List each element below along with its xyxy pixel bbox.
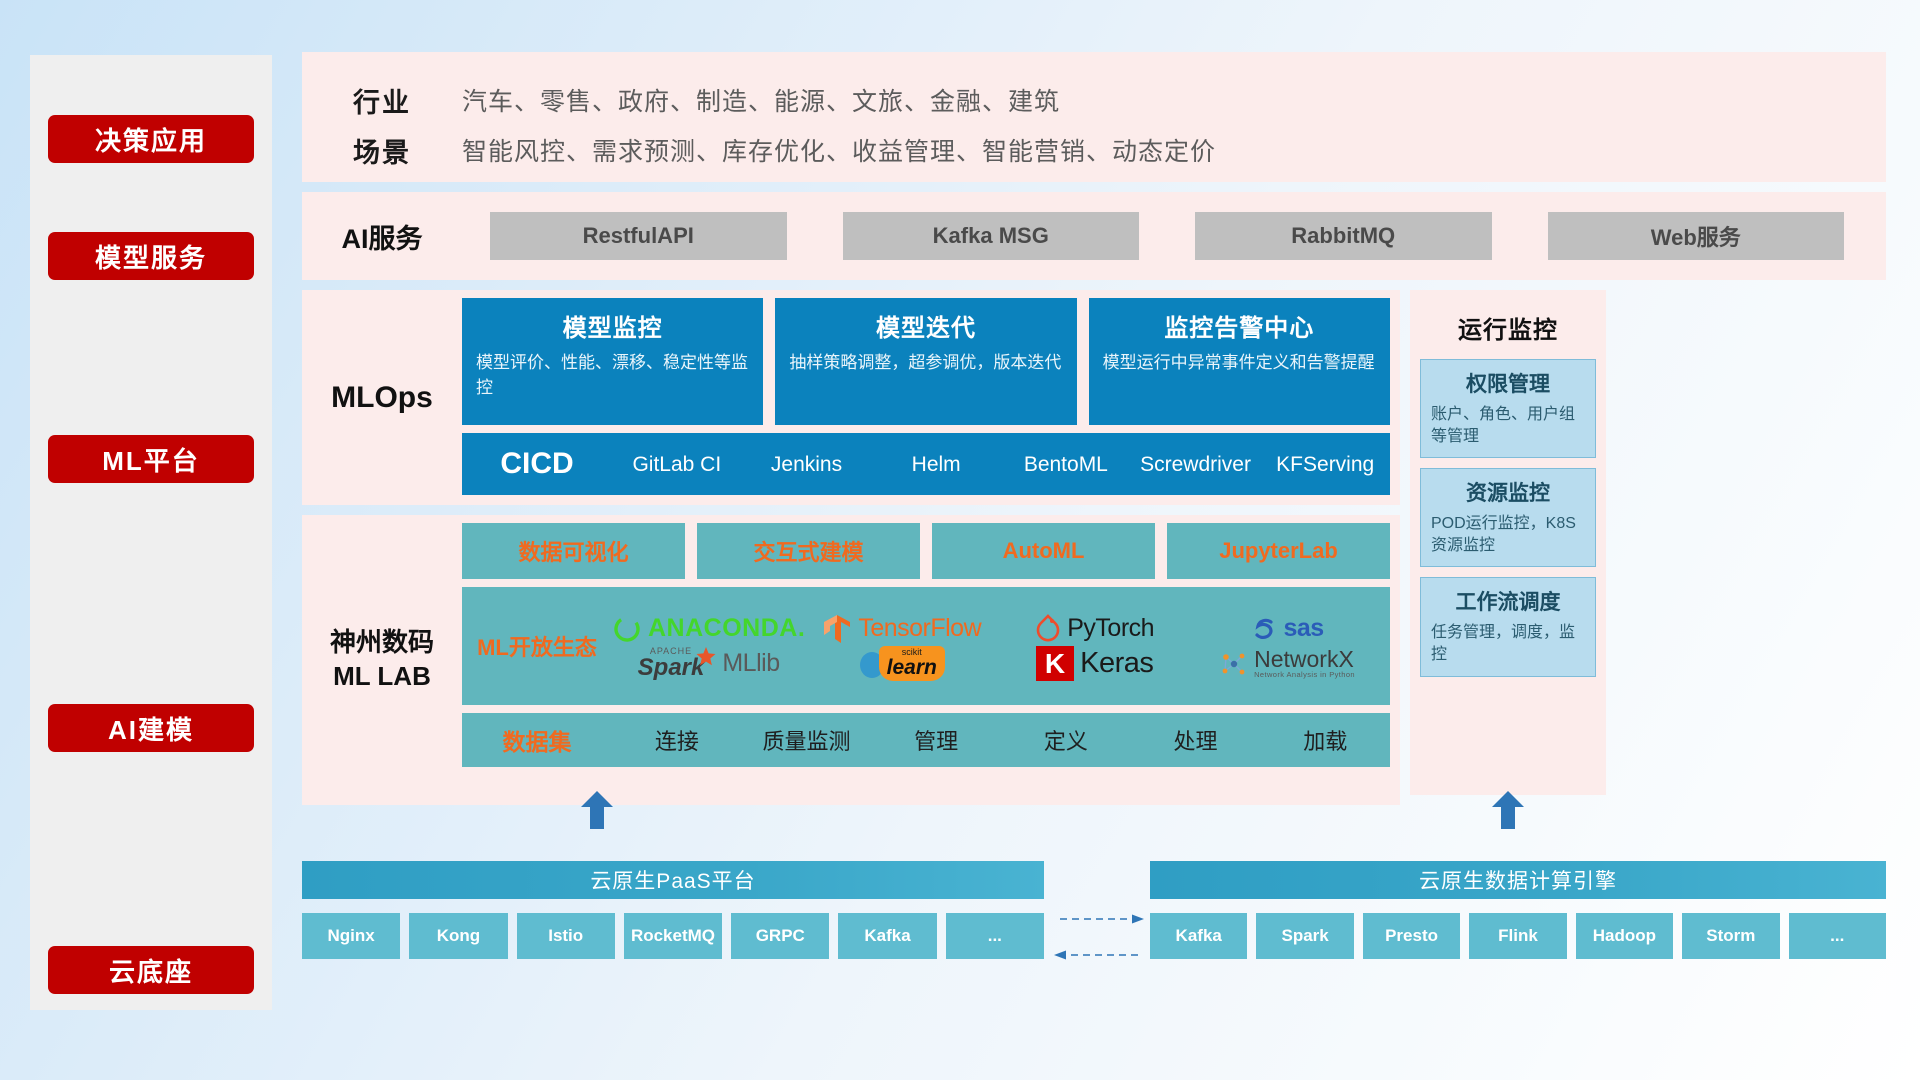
cloud-chip-spark[interactable]: Spark (1256, 913, 1353, 959)
ml-lab-label-line1: 神州数码 (302, 626, 462, 660)
cloud-chip-more-right[interactable]: ... (1789, 913, 1886, 959)
card-title: 资源监控 (1431, 477, 1585, 507)
card-title: 模型迭代 (789, 308, 1062, 343)
networkx-subtitle: Network Analysis in Python (1254, 671, 1355, 679)
cicd-item-gitlab-ci[interactable]: GitLab CI (612, 452, 742, 476)
anaconda-logo: ANACONDA. (612, 614, 805, 644)
stage-pill-ai-modeling[interactable]: AI建模 (48, 704, 254, 752)
ml-ecosystem-logo-grid: ANACONDA. TensorFlow (612, 611, 1390, 681)
mlops-card-model-iteration[interactable]: 模型迭代 抽样策略调整，超参调优，版本迭代 (775, 298, 1076, 425)
spark-mllib-logo: APACHE Spark MLlib (638, 647, 780, 681)
runtime-monitoring-title: 运行监控 (1420, 300, 1596, 359)
card-title: 监控告警中心 (1103, 308, 1376, 343)
up-arrow-left-icon (580, 791, 614, 829)
dataset-item-quality-monitoring[interactable]: 质量监测 (742, 724, 872, 756)
sas-logo-text: sas (1283, 614, 1323, 643)
tool-chip-data-visualization[interactable]: 数据可视化 (462, 523, 685, 579)
ml-lab-label-line2: ML LAB (302, 660, 462, 694)
mlops-card-model-monitoring[interactable]: 模型监控 模型评价、性能、漂移、稳定性等监控 (462, 298, 763, 425)
bidirectional-dashed-connector (1054, 909, 1144, 965)
stage-pill-model-service[interactable]: 模型服务 (48, 232, 254, 280)
networkx-icon (1220, 650, 1248, 678)
stage-pill-ml-platform[interactable]: ML平台 (48, 435, 254, 483)
cloud-chip-rocketmq[interactable]: RocketMQ (624, 913, 722, 959)
cloud-data-engine-group: 云原生数据计算引擎 Kafka Spark Presto Flink Hadoo… (1150, 861, 1886, 959)
sas-logo: sas (1251, 614, 1323, 643)
dataset-item-load[interactable]: 加载 (1260, 724, 1390, 756)
scenario-key: 场景 (302, 131, 462, 170)
up-arrow-right-icon (1491, 791, 1525, 829)
stage-label: AI建模 (108, 710, 194, 747)
ai-service-chip-rabbitmq[interactable]: RabbitMQ (1195, 212, 1492, 260)
ai-modeling-band: 神州数码 ML LAB 数据可视化 交互式建模 AutoML JupyterLa… (302, 515, 1886, 805)
keras-logo-text: Keras (1080, 647, 1153, 680)
ml-ecosystem-block: ML开放生态 ANACONDA. (462, 587, 1390, 705)
tensorflow-icon (822, 613, 852, 645)
cicd-item-screwdriver[interactable]: Screwdriver (1131, 452, 1261, 476)
monitor-card-permission[interactable]: 权限管理 账户、角色、用户组等管理 (1420, 359, 1596, 458)
cicd-title: CICD (462, 447, 612, 481)
keras-logo: K Keras (1036, 646, 1154, 681)
sas-icon (1251, 616, 1277, 642)
mlops-card-alert-center[interactable]: 监控告警中心 模型运行中异常事件定义和告警提醒 (1089, 298, 1390, 425)
cloud-chip-storm[interactable]: Storm (1682, 913, 1779, 959)
ai-service-chip-kafka-msg[interactable]: Kafka MSG (843, 212, 1140, 260)
anaconda-logo-text: ANACONDA. (648, 614, 805, 643)
pytorch-logo: PyTorch (1035, 614, 1154, 644)
tensorflow-logo-text: TensorFlow (858, 614, 981, 643)
cicd-item-helm[interactable]: Helm (871, 452, 1001, 476)
mllib-logo-text: MLlib (722, 649, 779, 678)
scenario-row: 场景 智能风控、需求预测、库存优化、收益管理、智能营销、动态定价 (302, 125, 1886, 175)
card-desc: 抽样策略调整，超参调优，版本迭代 (789, 351, 1062, 376)
ml-lab-content: 数据可视化 交互式建模 AutoML JupyterLab ML开放生态 (462, 515, 1400, 805)
cicd-item-jenkins[interactable]: Jenkins (742, 452, 872, 476)
tensorflow-logo: TensorFlow (822, 613, 981, 645)
stage-label: 模型服务 (95, 238, 207, 275)
industry-key: 行业 (302, 81, 462, 120)
stage-pill-decision[interactable]: 决策应用 (48, 115, 254, 163)
diagram-body: 行业 汽车、零售、政府、制造、能源、文旅、金融、建筑 场景 智能风控、需求预测、… (302, 52, 1886, 995)
ai-service-chip-restfulapi[interactable]: RestfulAPI (490, 212, 787, 260)
dataset-item-manage[interactable]: 管理 (871, 724, 1001, 756)
scikit-learn-logo: scikit learn (859, 646, 945, 681)
cloud-chip-flink[interactable]: Flink (1469, 913, 1566, 959)
dataset-item-connect[interactable]: 连接 (612, 724, 742, 756)
cicd-item-bentoml[interactable]: BentoML (1001, 452, 1131, 476)
cloud-chip-kong[interactable]: Kong (409, 913, 507, 959)
mlops-section: MLOps 模型监控 模型评价、性能、漂移、稳定性等监控 模型迭代 抽样策略调整… (302, 290, 1400, 505)
tool-chip-jupyterlab[interactable]: JupyterLab (1167, 523, 1390, 579)
industry-band: 行业 汽车、零售、政府、制造、能源、文旅、金融、建筑 场景 智能风控、需求预测、… (302, 52, 1886, 182)
cicd-item-kfserving[interactable]: KFServing (1260, 452, 1390, 476)
spark-star-icon (696, 647, 716, 667)
cloud-chip-grpc[interactable]: GRPC (731, 913, 829, 959)
cloud-chip-kafka[interactable]: Kafka (838, 913, 936, 959)
cloud-chip-more-left[interactable]: ... (946, 913, 1044, 959)
anaconda-icon (612, 614, 642, 644)
mlops-content: 模型监控 模型评价、性能、漂移、稳定性等监控 模型迭代 抽样策略调整，超参调优，… (462, 290, 1400, 505)
card-desc: 账户、角色、用户组等管理 (1431, 404, 1585, 447)
cloud-paas-group: 云原生PaaS平台 Nginx Kong Istio RocketMQ GRPC… (302, 861, 1044, 959)
cloud-chip-presto[interactable]: Presto (1363, 913, 1460, 959)
stage-rail: 决策应用 模型服务 ML平台 AI建模 云底座 (30, 55, 272, 1010)
cloud-paas-chip-list: Nginx Kong Istio RocketMQ GRPC Kafka ... (302, 913, 1044, 959)
cloud-chip-nginx[interactable]: Nginx (302, 913, 400, 959)
scenario-value: 智能风控、需求预测、库存优化、收益管理、智能营销、动态定价 (462, 132, 1216, 168)
ai-service-label: AI服务 (302, 217, 462, 256)
ml-platform-band: MLOps 模型监控 模型评价、性能、漂移、稳定性等监控 模型迭代 抽样策略调整… (302, 290, 1886, 505)
mlops-card-list: 模型监控 模型评价、性能、漂移、稳定性等监控 模型迭代 抽样策略调整，超参调优，… (462, 298, 1390, 425)
ai-service-band: AI服务 RestfulAPI Kafka MSG RabbitMQ Web服务 (302, 192, 1886, 280)
card-title: 权限管理 (1431, 368, 1585, 398)
stage-pill-cloud-base[interactable]: 云底座 (48, 946, 254, 994)
ml-lab-label: 神州数码 ML LAB (302, 626, 462, 694)
dataset-bar: 数据集 连接 质量监测 管理 定义 处理 加载 (462, 713, 1390, 767)
cloud-chip-hadoop[interactable]: Hadoop (1576, 913, 1673, 959)
dataset-item-process[interactable]: 处理 (1131, 724, 1261, 756)
tool-chip-interactive-modeling[interactable]: 交互式建模 (697, 523, 920, 579)
stage-label: 决策应用 (95, 121, 207, 158)
keras-k-icon: K (1036, 646, 1074, 681)
architecture-diagram: 决策应用 模型服务 ML平台 AI建模 云底座 行业 汽车、零售、政府、制造、能… (0, 0, 1920, 1080)
cloud-base-band: 云原生PaaS平台 Nginx Kong Istio RocketMQ GRPC… (302, 827, 1886, 995)
cloud-data-engine-header: 云原生数据计算引擎 (1150, 861, 1886, 899)
tool-chip-automl[interactable]: AutoML (932, 523, 1155, 579)
industry-value: 汽车、零售、政府、制造、能源、文旅、金融、建筑 (462, 82, 1060, 118)
card-desc: 模型评价、性能、漂移、稳定性等监控 (476, 351, 749, 400)
cloud-chip-kafka-right[interactable]: Kafka (1150, 913, 1247, 959)
ml-lab-tool-chip-list: 数据可视化 交互式建模 AutoML JupyterLab (462, 523, 1390, 579)
cloud-data-engine-chip-list: Kafka Spark Presto Flink Hadoop Storm ..… (1150, 913, 1886, 959)
dataset-item-define[interactable]: 定义 (1001, 724, 1131, 756)
networkx-logo: NetworkX Network Analysis in Python (1220, 648, 1355, 679)
industry-row: 行业 汽车、零售、政府、制造、能源、文旅、金融、建筑 (302, 75, 1886, 125)
ml-lab-section: 神州数码 ML LAB 数据可视化 交互式建模 AutoML JupyterLa… (302, 515, 1400, 805)
mlops-label: MLOps (302, 381, 462, 415)
ml-ecosystem-label: ML开放生态 (462, 630, 612, 662)
layout-spacer (1400, 515, 1606, 805)
stage-label: ML平台 (102, 441, 200, 478)
pytorch-logo-text: PyTorch (1067, 614, 1154, 643)
scikit-learn-logo-text: learn (887, 657, 937, 678)
cicd-bar: CICD GitLab CI Jenkins Helm BentoML Scre… (462, 433, 1390, 495)
pytorch-icon (1035, 614, 1061, 644)
ai-service-chip-list: RestfulAPI Kafka MSG RabbitMQ Web服务 (462, 212, 1886, 260)
ai-service-chip-web-service[interactable]: Web服务 (1548, 212, 1845, 260)
networkx-logo-text: NetworkX (1254, 648, 1355, 671)
card-desc: 模型运行中异常事件定义和告警提醒 (1103, 351, 1376, 376)
stage-label: 云底座 (109, 952, 193, 989)
cloud-chip-istio[interactable]: Istio (517, 913, 615, 959)
card-title: 模型监控 (476, 308, 749, 343)
dataset-title: 数据集 (462, 723, 612, 757)
cloud-paas-header: 云原生PaaS平台 (302, 861, 1044, 899)
spark-logo-text: Spark (638, 656, 705, 680)
